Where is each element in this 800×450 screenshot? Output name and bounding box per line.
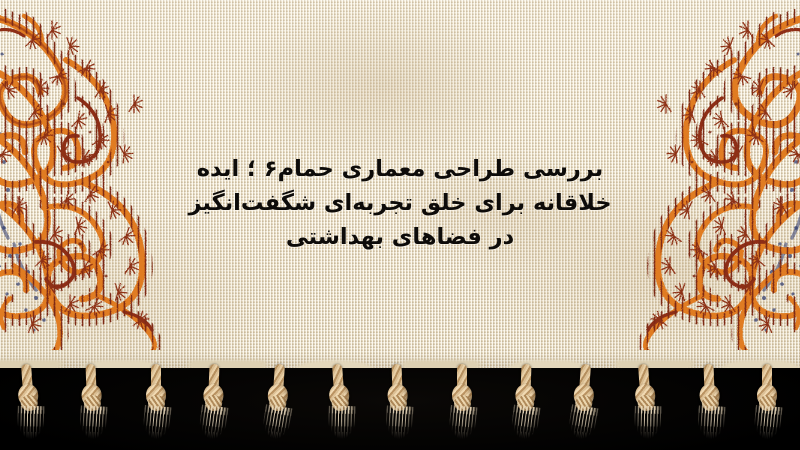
tassel (380, 363, 417, 450)
title-card-slide: بررسی طراحی معماری حمام۶ ؛ ایده خلاقانه … (0, 0, 800, 450)
tassel (563, 363, 603, 450)
tassel (320, 363, 360, 450)
tassel-skirt (385, 405, 414, 446)
tassel-skirt (328, 406, 356, 446)
tassel-skirt (141, 405, 171, 447)
tassel (257, 363, 297, 450)
tassel (626, 363, 666, 450)
tassel (74, 363, 111, 450)
tassel-skirt (634, 406, 662, 446)
slide-title: بررسی طراحی معماری حمام۶ ؛ ایده خلاقانه … (150, 152, 650, 254)
tassel (445, 364, 479, 450)
tassel-skirt (753, 405, 783, 447)
tassel-skirt (79, 405, 108, 446)
tassel (507, 363, 544, 450)
tassel-skirt (509, 405, 541, 448)
tassel-fringe-row (0, 364, 800, 450)
tassel-skirt (565, 404, 598, 448)
tassel (750, 364, 784, 450)
tassel (9, 363, 49, 450)
tassel-skirt (260, 404, 293, 448)
tassel (195, 363, 232, 450)
tassel-skirt (17, 406, 45, 446)
tassel (691, 363, 728, 450)
tassel-skirt (197, 405, 229, 448)
title-line-3: در فضاهای بهداشتی (150, 220, 650, 254)
tassel-skirt (447, 405, 477, 447)
title-line-2: خلاقانه برای خلق تجربه‌ای شگفت‌انگیز (150, 186, 650, 220)
tassel-skirt (696, 405, 725, 446)
title-line-1: بررسی طراحی معماری حمام۶ ؛ ایده (150, 152, 650, 186)
tassel (139, 364, 173, 450)
